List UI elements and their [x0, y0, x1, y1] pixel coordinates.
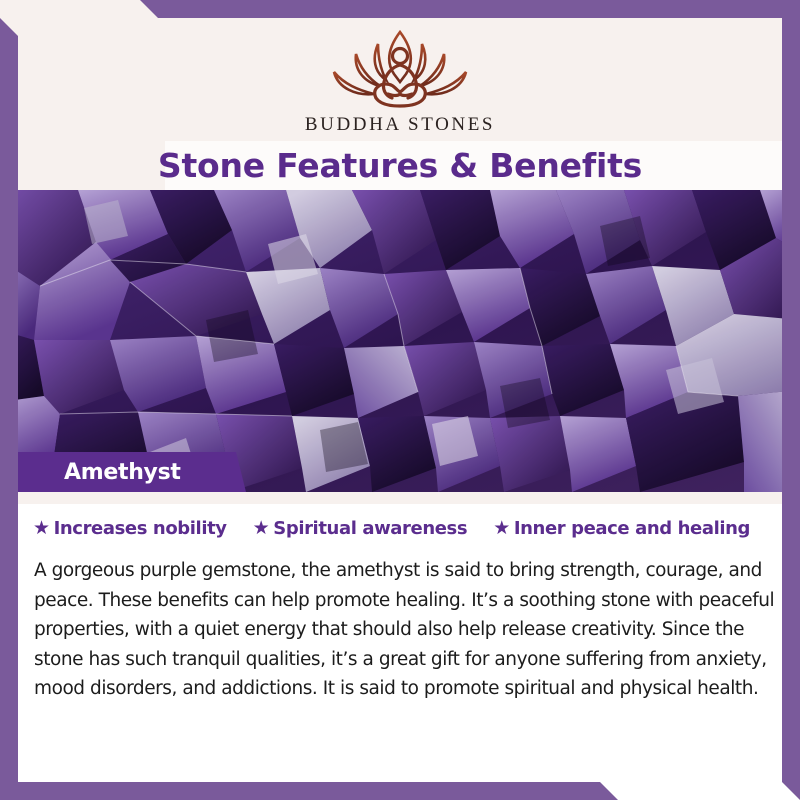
page-title: Stone Features & Benefits — [0, 140, 800, 190]
star-icon: ★ — [33, 519, 50, 538]
star-icon: ★ — [253, 519, 270, 538]
brand-name: BUDDHA STONES — [305, 114, 495, 136]
benefit-item: ★ Increases nobility — [33, 518, 227, 539]
benefits-list: ★ Increases nobility ★ Spiritual awarene… — [0, 518, 783, 539]
benefit-label: Spiritual awareness — [273, 518, 467, 539]
brand-logo: BUDDHA STONES — [0, 24, 800, 144]
star-icon: ★ — [493, 519, 510, 538]
benefit-label: Inner peace and healing — [514, 518, 750, 539]
frame-border-left — [0, 0, 18, 800]
frame-border-right — [782, 0, 800, 800]
lotus-meditating-figure-icon — [316, 24, 484, 112]
stone-name-label: Amethyst — [64, 460, 181, 485]
divider-strip — [0, 492, 783, 504]
benefit-label: Increases nobility — [54, 518, 227, 539]
frame-border-top — [0, 0, 800, 18]
amethyst-crystal-cluster-photo — [0, 190, 800, 492]
benefit-item: ★ Inner peace and healing — [493, 518, 750, 539]
stone-description: A gorgeous purple gemstone, the amethyst… — [34, 556, 778, 704]
stone-benefits-card: BUDDHA STONES Stone Features & Benefits — [0, 0, 800, 800]
stone-name-banner: Amethyst — [0, 452, 246, 492]
benefit-item: ★ Spiritual awareness — [253, 518, 468, 539]
